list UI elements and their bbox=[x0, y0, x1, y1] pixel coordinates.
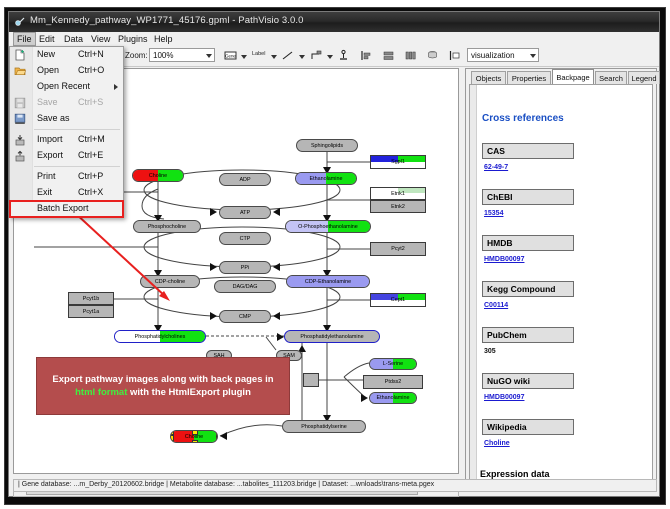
menu-item-open-recent-label: Open Recent bbox=[37, 81, 90, 91]
tab-objects[interactable]: Objects bbox=[471, 71, 506, 84]
menu-data[interactable]: Data bbox=[61, 33, 86, 45]
cross-reference-link[interactable]: C00114 bbox=[484, 302, 508, 309]
interaction-dropdown-icon[interactable] bbox=[327, 55, 333, 59]
menu-item-batch-export-label: Batch Export bbox=[37, 203, 89, 213]
cross-reference-link[interactable]: HMDB00097 bbox=[484, 256, 524, 263]
tab-properties[interactable]: Properties bbox=[507, 71, 551, 84]
tab-search[interactable]: Search bbox=[595, 71, 627, 84]
menu-item-print-label: Print bbox=[37, 171, 56, 181]
menu-item-import-label: Import bbox=[37, 134, 63, 144]
visualization-combobox[interactable]: visualization bbox=[467, 48, 539, 62]
file-menu-dropdown[interactable]: New Ctrl+N Open Ctrl+O Open Recent bbox=[9, 46, 124, 218]
interaction-tool-icon[interactable] bbox=[309, 49, 322, 62]
cross-reference-label: Kegg Compound bbox=[482, 281, 574, 297]
menu-item-print-accel: Ctrl+P bbox=[78, 171, 103, 181]
label-tool-label[interactable]: Label bbox=[252, 51, 265, 57]
submenu-arrow-icon bbox=[114, 84, 118, 90]
menu-item-open[interactable]: Open Ctrl+O bbox=[10, 63, 123, 79]
menu-item-exit[interactable]: Exit Ctrl+X bbox=[10, 185, 123, 201]
menu-item-open-accel: Ctrl+O bbox=[78, 65, 104, 75]
menu-view[interactable]: View bbox=[88, 33, 113, 45]
sidebar-tabstrip: Objects Properties Backpage Search Legen… bbox=[466, 69, 656, 84]
menu-item-open-label: Open bbox=[37, 65, 59, 75]
datanode-dropdown-icon[interactable] bbox=[241, 55, 247, 59]
distribute-icon[interactable] bbox=[404, 49, 417, 62]
folder-open-icon bbox=[14, 65, 26, 77]
group-icon[interactable] bbox=[448, 49, 461, 62]
desktop-background: Mm_Kennedy_pathway_WP1771_45176.gpml - P… bbox=[0, 0, 670, 509]
menu-item-export-label: Export bbox=[37, 150, 63, 160]
zoom-combobox[interactable]: 100% bbox=[149, 48, 215, 62]
menu-item-new-accel: Ctrl+N bbox=[78, 49, 104, 59]
anchor-tool-icon[interactable] bbox=[337, 49, 350, 62]
cross-reference-link[interactable]: HMDB00097 bbox=[484, 394, 524, 401]
line-tool-icon[interactable] bbox=[281, 49, 294, 62]
cross-reference-label: Wikipedia bbox=[482, 419, 574, 435]
align-center-icon[interactable] bbox=[382, 49, 395, 62]
window-title: Mm_Kennedy_pathway_WP1771_45176.gpml - P… bbox=[30, 15, 304, 26]
cross-reference-value: 305 bbox=[484, 348, 496, 355]
annotation-text: Export pathway images along with back pa… bbox=[37, 373, 289, 399]
menu-item-save-as[interactable]: Save as bbox=[10, 111, 123, 127]
backpage-content[interactable]: Cross references CAS62-49-7ChEBI15354HMD… bbox=[469, 84, 653, 483]
cross-reference-label: NuGO wiki bbox=[482, 373, 574, 389]
menu-help[interactable]: Help bbox=[151, 33, 176, 45]
menu-item-print[interactable]: Print Ctrl+P bbox=[10, 169, 123, 185]
chevron-down-icon bbox=[206, 54, 212, 58]
chevron-down-icon bbox=[530, 54, 536, 58]
menu-separator bbox=[34, 129, 120, 130]
stack-icon[interactable] bbox=[426, 49, 439, 62]
menu-plugins[interactable]: Plugins bbox=[115, 33, 151, 45]
save-as-icon bbox=[14, 113, 26, 125]
menu-item-save: Save Ctrl+S bbox=[10, 95, 123, 111]
cross-reference-label: CAS bbox=[482, 143, 574, 159]
svg-text:Gene: Gene bbox=[225, 54, 236, 59]
menu-item-new-label: New bbox=[37, 49, 55, 59]
cross-reference-label: ChEBI bbox=[482, 189, 574, 205]
cross-reference-link[interactable]: 62-49-7 bbox=[484, 164, 508, 171]
menu-item-batch-export[interactable]: Batch Export bbox=[10, 201, 123, 217]
cross-reference-link[interactable]: 15354 bbox=[484, 210, 503, 217]
backpage-gutter bbox=[470, 85, 477, 482]
menu-item-open-recent[interactable]: Open Recent bbox=[10, 79, 123, 95]
menu-edit[interactable]: Edit bbox=[36, 33, 58, 45]
label-dropdown-icon[interactable] bbox=[271, 55, 277, 59]
menu-bar: File Edit Data View Plugins Help bbox=[9, 32, 659, 47]
status-bar: | Gene database: ...m_Derby_20120602.bri… bbox=[13, 479, 657, 492]
sidebar-panel: Objects Properties Backpage Search Legen… bbox=[465, 68, 657, 486]
cross-reference-label: PubChem bbox=[482, 327, 574, 343]
pathvisio-window: Mm_Kennedy_pathway_WP1771_45176.gpml - P… bbox=[8, 11, 660, 497]
menu-item-exit-label: Exit bbox=[37, 187, 52, 197]
expression-data-heading: Expression data bbox=[480, 469, 550, 479]
cross-reference-link[interactable]: Choline bbox=[484, 440, 510, 447]
line-dropdown-icon[interactable] bbox=[299, 55, 305, 59]
visualization-value: visualization bbox=[471, 51, 515, 60]
menu-item-save-as-label: Save as bbox=[37, 113, 70, 123]
datanode-tool-icon[interactable]: Gene bbox=[224, 49, 237, 62]
annotation-highlight: html format bbox=[75, 387, 127, 398]
tab-legend[interactable]: Legend bbox=[628, 71, 660, 84]
zoom-value: 100% bbox=[153, 51, 173, 60]
annotation-callout: Export pathway images along with back pa… bbox=[36, 357, 290, 415]
menu-item-save-label: Save bbox=[37, 97, 58, 107]
import-icon bbox=[14, 134, 26, 146]
menu-item-import[interactable]: Import Ctrl+M bbox=[10, 132, 123, 148]
pathvisio-icon bbox=[14, 16, 26, 28]
cross-reference-label: HMDB bbox=[482, 235, 574, 251]
menu-item-exit-accel: Ctrl+X bbox=[78, 187, 103, 197]
align-left-icon[interactable] bbox=[360, 49, 373, 62]
menu-item-export[interactable]: Export Ctrl+E bbox=[10, 148, 123, 164]
export-icon bbox=[14, 150, 26, 162]
menu-item-export-accel: Ctrl+E bbox=[78, 150, 103, 160]
zoom-label: Zoom: bbox=[125, 51, 148, 60]
menu-item-import-accel: Ctrl+M bbox=[78, 134, 105, 144]
new-document-icon bbox=[14, 49, 26, 61]
tab-backpage[interactable]: Backpage bbox=[552, 69, 594, 84]
annotation-text-after: with the HtmlExport plugin bbox=[127, 387, 251, 398]
menu-separator bbox=[34, 166, 120, 167]
title-bar: Mm_Kennedy_pathway_WP1771_45176.gpml - P… bbox=[9, 12, 659, 33]
menu-item-new[interactable]: New Ctrl+N bbox=[10, 47, 123, 63]
status-text: | Gene database: ...m_Derby_20120602.bri… bbox=[18, 481, 434, 488]
annotation-text-before: Export pathway images along with back pa… bbox=[52, 374, 273, 385]
menu-file[interactable]: File bbox=[13, 32, 36, 46]
menu-item-save-accel: Ctrl+S bbox=[78, 97, 103, 107]
cross-references-heading: Cross references bbox=[482, 113, 564, 124]
save-disk-icon bbox=[14, 97, 26, 109]
